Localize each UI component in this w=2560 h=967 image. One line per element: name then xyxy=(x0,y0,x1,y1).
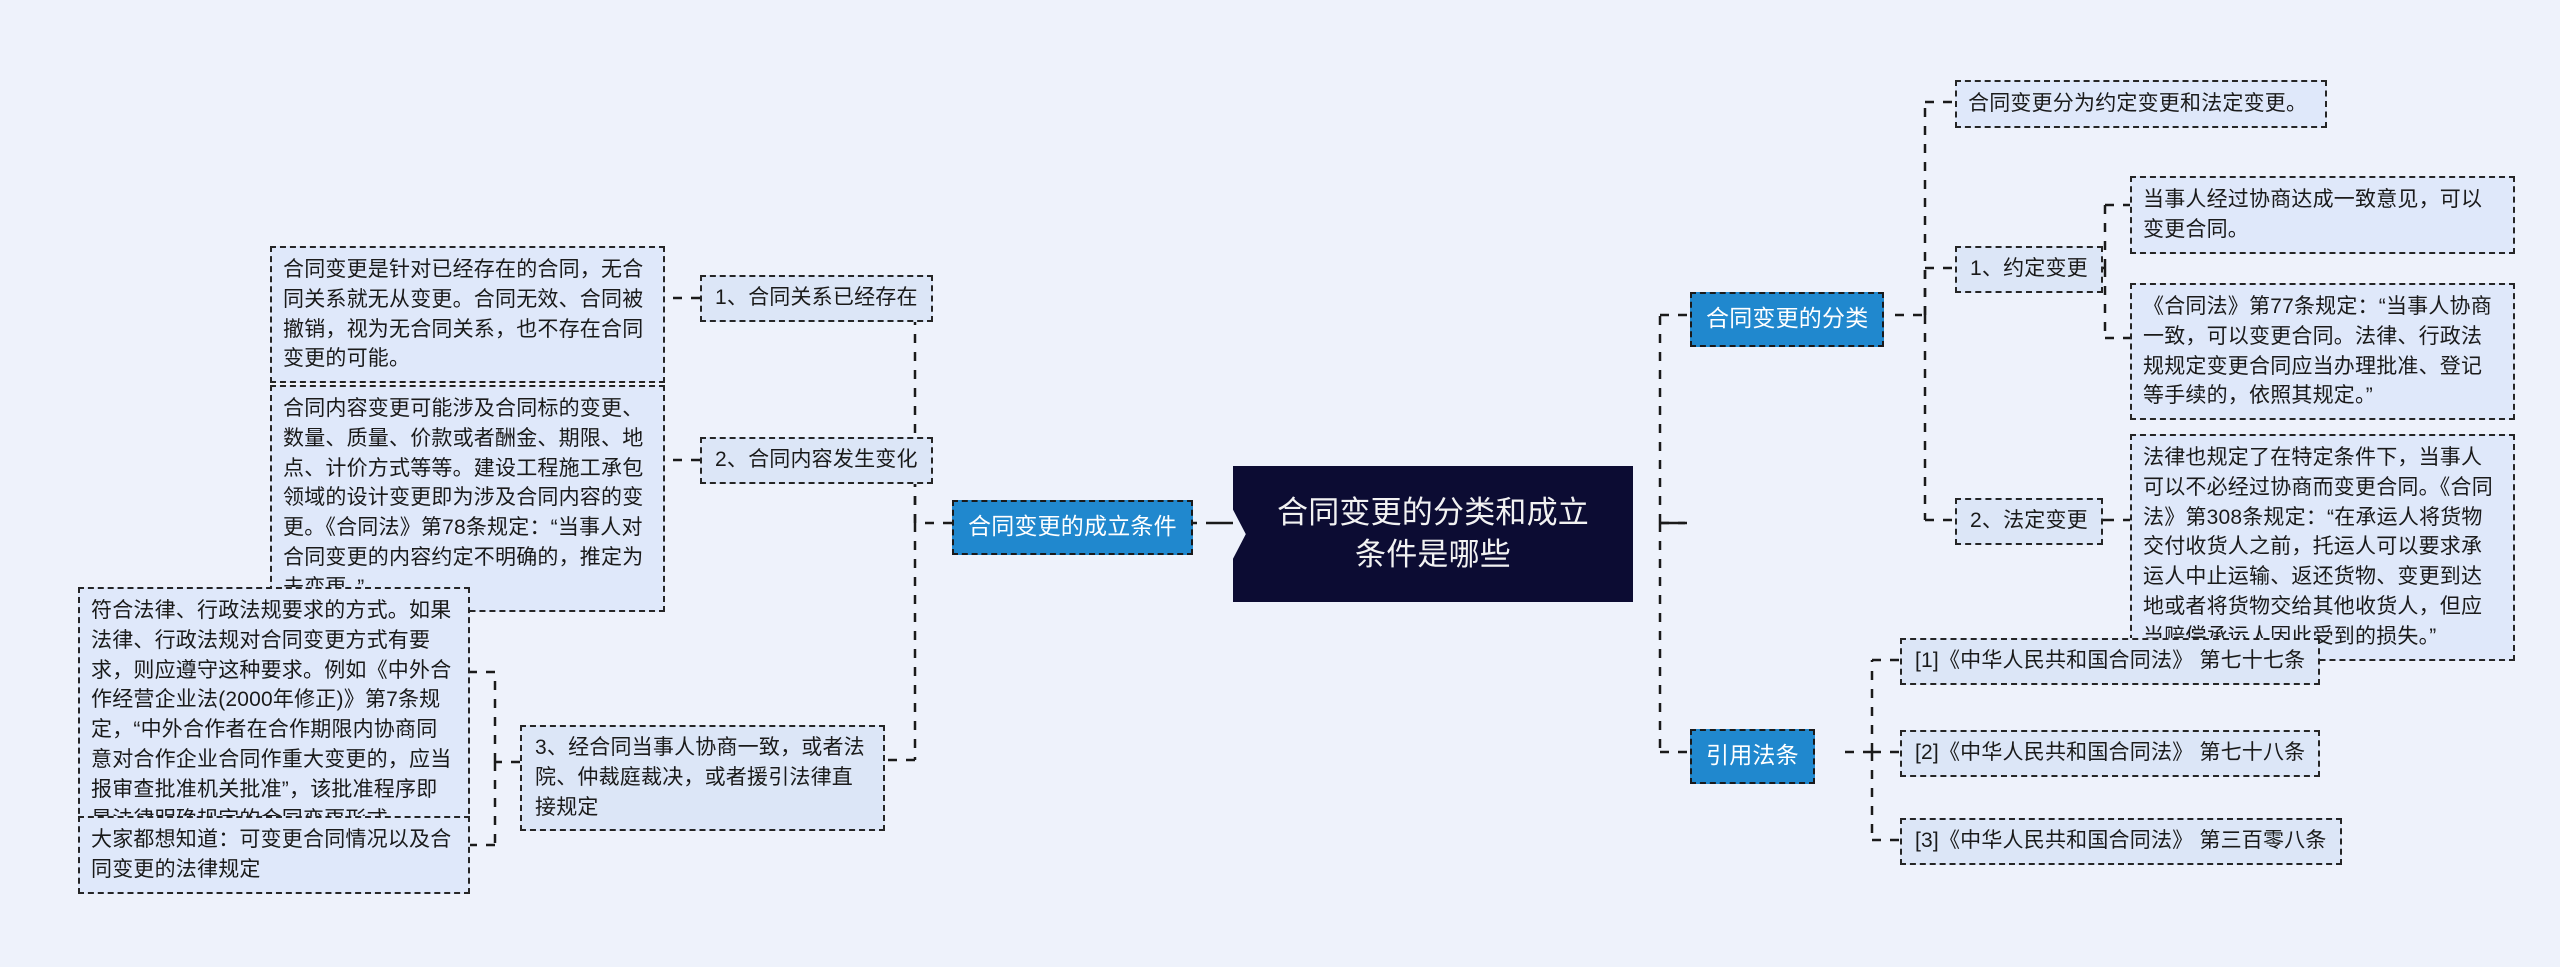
classification-item-1-detail-1-text: 当事人经过协商达成一致意见，可以变更合同。 xyxy=(2143,188,2482,241)
classification-item-2-text: 2、法定变更 xyxy=(1970,509,2088,532)
cited-statute-3[interactable]: [3]《中华人民共和国合同法》 第三百零八条 xyxy=(1900,818,2342,865)
cited-statute-2-text: [2]《中华人民共和国合同法》 第七十八条 xyxy=(1915,741,2305,764)
branch-tag-cited-statutes-label: 引用法条 xyxy=(1706,742,1799,768)
left-item-1-detail-text: 合同变更是针对已经存在的合同，无合同关系就无从变更。合同无效、合同被撤销，视为无… xyxy=(283,258,643,370)
left-item-1-detail[interactable]: 合同变更是针对已经存在的合同，无合同关系就无从变更。合同无效、合同被撤销，视为无… xyxy=(270,246,665,383)
classification-item-label-1[interactable]: 1、约定变更 xyxy=(1955,246,2103,293)
classification-item-1-detail-2[interactable]: 《合同法》第77条规定：“当事人协商一致，可以变更合同。法律、行政法规规定变更合… xyxy=(2130,283,2515,420)
left-item-2-detail-text: 合同内容变更可能涉及合同标的变更、数量、质量、价款或者酬金、期限、地点、计价方式… xyxy=(283,397,643,599)
left-item-label-2[interactable]: 2、合同内容发生变化 xyxy=(700,437,933,484)
classification-item-1-detail-2-text: 《合同法》第77条规定：“当事人协商一致，可以变更合同。法律、行政法规规定变更合… xyxy=(2143,295,2492,407)
left-item-3-detail-2-text: 大家都想知道：可变更合同情况以及合同变更的法律规定 xyxy=(91,828,451,881)
left-item-2-detail[interactable]: 合同内容变更可能涉及合同标的变更、数量、质量、价款或者酬金、期限、地点、计价方式… xyxy=(270,385,665,612)
branch-tag-establishment-conditions[interactable]: 合同变更的成立条件 xyxy=(952,500,1193,555)
classification-item-1-text: 1、约定变更 xyxy=(1970,257,2088,280)
left-item-label-3[interactable]: 3、经合同当事人协商一致，或者法院、仲裁庭裁决，或者援引法律直接规定 xyxy=(520,725,885,831)
classification-item-label-2[interactable]: 2、法定变更 xyxy=(1955,498,2103,545)
classification-item-2-detail-1-text: 法律也规定了在特定条件下，当事人可以不必经过协商而变更合同。《合同法》第308条… xyxy=(2143,446,2493,648)
center-node[interactable]: 合同变更的分类和成立条件是哪些 xyxy=(1233,466,1633,602)
branch-tag-classification[interactable]: 合同变更的分类 xyxy=(1690,292,1884,347)
left-item-label-1[interactable]: 1、合同关系已经存在 xyxy=(700,275,933,322)
classification-item-2-detail-1[interactable]: 法律也规定了在特定条件下，当事人可以不必经过协商而变更合同。《合同法》第308条… xyxy=(2130,434,2515,661)
cited-statute-2[interactable]: [2]《中华人民共和国合同法》 第七十八条 xyxy=(1900,730,2320,777)
cited-statute-3-text: [3]《中华人民共和国合同法》 第三百零八条 xyxy=(1915,829,2327,852)
branch-tag-label: 合同变更的成立条件 xyxy=(968,513,1177,539)
branch-tag-classification-label: 合同变更的分类 xyxy=(1706,305,1868,331)
left-item-3-text: 3、经合同当事人协商一致，或者法院、仲裁庭裁决，或者援引法律直接规定 xyxy=(535,736,865,819)
center-node-title: 合同变更的分类和成立条件是哪些 xyxy=(1277,495,1589,572)
left-item-3-detail[interactable]: 符合法律、行政法规要求的方式。如果法律、行政法规对合同变更方式有要求，则应遵守这… xyxy=(78,587,470,844)
left-item-2-text: 2、合同内容发生变化 xyxy=(715,448,918,471)
left-item-3-detail-2[interactable]: 大家都想知道：可变更合同情况以及合同变更的法律规定 xyxy=(78,816,470,894)
classification-top-note[interactable]: 合同变更分为约定变更和法定变更。 xyxy=(1955,80,2327,128)
left-item-1-text: 1、合同关系已经存在 xyxy=(715,286,918,309)
classification-top-note-text: 合同变更分为约定变更和法定变更。 xyxy=(1968,92,2307,115)
left-item-3-detail-text: 符合法律、行政法规要求的方式。如果法律、行政法规对合同变更方式有要求，则应遵守这… xyxy=(91,599,451,831)
cited-statute-1[interactable]: [1]《中华人民共和国合同法》 第七十七条 xyxy=(1900,638,2320,685)
mindmap-canvas: 合同变更的分类和成立条件是哪些 合同变更的成立条件 1、合同关系已经存在 合同变… xyxy=(0,0,2560,967)
cited-statute-1-text: [1]《中华人民共和国合同法》 第七十七条 xyxy=(1915,649,2305,672)
branch-tag-cited-statutes[interactable]: 引用法条 xyxy=(1690,729,1815,784)
classification-item-1-detail-1[interactable]: 当事人经过协商达成一致意见，可以变更合同。 xyxy=(2130,176,2515,254)
